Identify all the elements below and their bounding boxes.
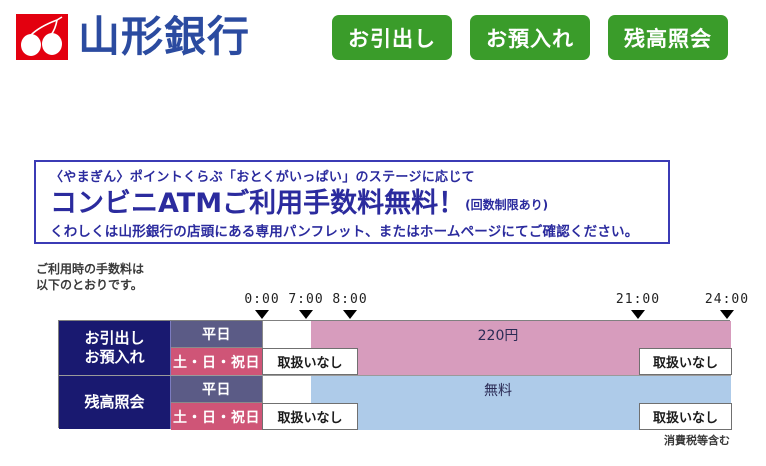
band-holiday-closed-early: 取扱いなし (262, 348, 358, 375)
intro-line-1: ご利用時の手数料は (36, 261, 144, 277)
withdrawal-button[interactable]: お引出し (332, 15, 452, 60)
promo-banner: 〈やまぎん〉ポイントくらぶ「おとくがいっぱい」のステージに応じて コンビニATM… (34, 160, 670, 244)
service-label-line1: 残高照会 (84, 393, 144, 412)
band-weekday-closed-early (263, 321, 311, 348)
time-axis: 0:00 7:00 8:00 21:00 24:00 (0, 292, 766, 320)
band-weekday-free (311, 376, 731, 403)
tax-footnote: 消費税等含む (664, 432, 730, 448)
bank-name: 山形銀行 (78, 14, 250, 60)
promo-headline: コンビニATMご利用手数料無料！(回数制限あり) (50, 188, 654, 221)
table-row-balance-inquiry: 残高照会 平日 土・日・祝日 取扱いなし 取扱いなし 無料 (59, 375, 731, 429)
band-holiday-closed-early: 取扱いなし (262, 403, 358, 430)
service-label-line1: お引出し (84, 329, 144, 347)
nav-button-group: お引出し お預入れ 残高照会 (332, 15, 728, 60)
day-label-holiday: 土・日・祝日 (171, 348, 263, 375)
time-marker-2-icon (343, 310, 357, 319)
day-type-column-balance: 平日 土・日・祝日 (171, 376, 263, 429)
service-label-withdrawal-deposit: お引出し お預入れ (59, 321, 171, 375)
day-type-column-withdrawal: 平日 土・日・祝日 (171, 321, 263, 375)
band-holiday-closed-late: 取扱いなし (639, 403, 732, 430)
cherry-fruit-right-icon (42, 33, 62, 55)
intro-text: ご利用時の手数料は 以下のとおりです。 (36, 261, 144, 293)
promo-subtitle: 〈やまぎん〉ポイントくらぶ「おとくがいっぱい」のステージに応じて (50, 169, 654, 187)
band-holiday-closed-late: 取扱いなし (639, 348, 732, 375)
time-label-4: 24:00 (705, 292, 749, 307)
time-label-2: 8:00 (332, 292, 367, 307)
band-weekday-fee (311, 321, 731, 348)
service-label-line2: お預入れ (84, 348, 144, 366)
promo-headline-note: (回数制限あり) (465, 198, 548, 212)
promo-headline-main: コンビニATMご利用手数料無料！ (50, 188, 465, 219)
time-label-1: 7:00 (288, 292, 323, 307)
time-label-0: 0:00 (244, 292, 279, 307)
cherry-logo-icon (16, 14, 68, 60)
balance-inquiry-button[interactable]: 残高照会 (608, 15, 728, 60)
day-label-holiday: 土・日・祝日 (171, 403, 263, 430)
fee-schedule-table: お引出し お預入れ 平日 土・日・祝日 取扱いなし 取扱いなし 220円 (58, 320, 730, 428)
site-header: 山形銀行 お引出し お預入れ 残高照会 (0, 0, 766, 80)
time-bands-withdrawal: 取扱いなし 取扱いなし 220円 (263, 321, 731, 375)
time-label-3: 21:00 (616, 292, 660, 307)
time-marker-3-icon (631, 310, 645, 319)
service-label-balance-inquiry: 残高照会 (59, 376, 171, 429)
table-row-withdrawal-deposit: お引出し お預入れ 平日 土・日・祝日 取扱いなし 取扱いなし 220円 (59, 321, 731, 375)
time-bands-balance: 取扱いなし 取扱いなし 無料 (263, 376, 731, 429)
band-weekday-closed-early (263, 376, 311, 403)
time-marker-4-icon (720, 310, 734, 319)
day-label-weekday: 平日 (171, 321, 263, 348)
bank-logo[interactable]: 山形銀行 (16, 14, 250, 60)
intro-line-2: 以下のとおりです。 (36, 277, 144, 293)
promo-detail: くわしくは山形銀行の店頭にある専用パンフレット、またはホームページにてご確認くだ… (50, 223, 654, 241)
page-root: 山形銀行 お引出し お預入れ 残高照会 〈やまぎん〉ポイントくらぶ「おとくがいっ… (0, 0, 766, 466)
deposit-button[interactable]: お預入れ (470, 15, 590, 60)
day-label-weekday: 平日 (171, 376, 263, 403)
time-marker-1-icon (299, 310, 313, 319)
time-marker-0-icon (255, 310, 269, 319)
cherry-fruit-left-icon (21, 34, 41, 56)
